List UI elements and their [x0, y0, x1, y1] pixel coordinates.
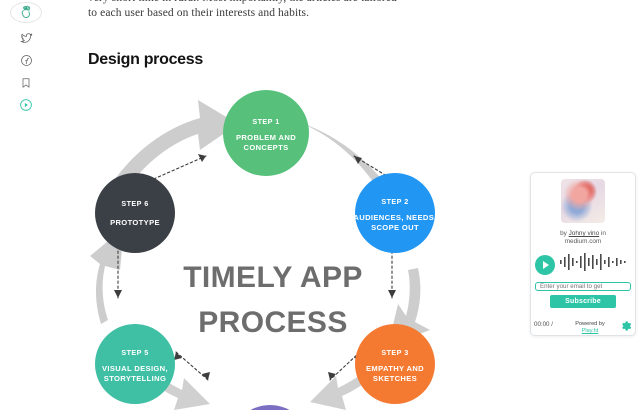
step-2-number: STEP 2 [381, 197, 408, 206]
play-triangle-icon [543, 261, 549, 269]
design-process-diagram: TIMELY APP PROCESS STEP 1 PROBLEM AND CO… [88, 80, 458, 410]
diagram-node-step-6[interactable]: STEP 6 PROTOTYPE [95, 173, 175, 253]
step-6-number: STEP 6 [121, 199, 148, 208]
clap-button[interactable] [10, 2, 42, 23]
diagram-center-title-line2: PROCESS [198, 306, 348, 339]
article-body: very short time in rural. Most important… [88, 0, 418, 30]
diagram-node-step-2[interactable]: STEP 2 AUDIENCES, NEEDS, SCOPE OUT [353, 173, 436, 253]
clap-icon [18, 4, 35, 21]
step-5-title-line1: VISUAL DESIGN, [102, 364, 168, 373]
step-1-number: STEP 1 [252, 117, 279, 126]
step-3-title-line1: EMPATHY AND [366, 364, 424, 373]
step-1-title-line1: PROBLEM AND [236, 133, 296, 142]
article-thumbnail [561, 179, 605, 223]
step-3-number: STEP 3 [381, 348, 408, 357]
step-6-title-line1: PROTOTYPE [110, 218, 160, 227]
lead-paragraph: very short time in rural. Most important… [88, 0, 418, 21]
audio-play-icon [19, 98, 33, 112]
settings-button[interactable] [620, 319, 632, 336]
step-2-title-line2: SCOPE OUT [371, 223, 419, 232]
twitter-share-icon [20, 32, 33, 45]
article-action-rail [0, 0, 52, 120]
listen-audio-button[interactable] [14, 98, 38, 113]
player-controls-row [535, 252, 631, 277]
time-current: 00:00 / [534, 321, 553, 328]
playback-time: 00:00 / 05:22 [534, 313, 560, 336]
time-total: 05:22 [534, 336, 549, 337]
step-2-title-line1: AUDIENCES, NEEDS, [353, 213, 436, 222]
powered-by-label: Powered by Play.ht [575, 321, 605, 335]
powered-by-text: Powered by [575, 321, 605, 327]
step-1-title-line2: CONCEPTS [244, 143, 289, 152]
play-button[interactable] [535, 255, 555, 275]
email-input[interactable] [535, 282, 631, 291]
widget-author-link[interactable]: Johny vino [569, 230, 600, 237]
byline-prefix: by [560, 230, 569, 237]
bookmark-button[interactable] [14, 76, 38, 91]
diagram-node-step-3[interactable]: STEP 3 EMPATHY AND SKETCHES [355, 324, 435, 404]
playht-brand-link[interactable]: Play.ht [582, 328, 599, 334]
widget-footer: 00:00 / 05:22 Powered by Play.ht [534, 313, 632, 336]
twitter-share-button[interactable] [14, 31, 38, 46]
facebook-share-icon [20, 54, 33, 67]
facebook-share-button[interactable] [14, 53, 38, 68]
step-5-number: STEP 5 [121, 348, 148, 357]
section-heading: Design process [88, 51, 203, 69]
gear-icon [620, 319, 632, 336]
diagram-node-step-1[interactable]: STEP 1 PROBLEM AND CONCEPTS [223, 90, 309, 176]
diagram-node-step-5[interactable]: STEP 5 VISUAL DESIGN, STORYTELLING [95, 324, 175, 404]
subscribe-button[interactable]: Subscribe [550, 295, 616, 308]
byline-mid: in [599, 230, 606, 237]
widget-byline: by Johny vino in medium.com [560, 230, 606, 246]
diagram-node-step-4[interactable] [230, 405, 310, 410]
audio-waveform[interactable] [559, 252, 631, 277]
diagram-center-title-line1: TIMELY APP [183, 261, 363, 294]
playht-audio-widget: ase study for the New Y by Johny vino in… [530, 172, 636, 336]
widget-platform: medium.com [565, 238, 602, 245]
step-5-title-line2: STORYTELLING [104, 374, 166, 383]
step-3-title-line2: SKETCHES [373, 374, 417, 383]
bookmark-icon [20, 76, 32, 90]
